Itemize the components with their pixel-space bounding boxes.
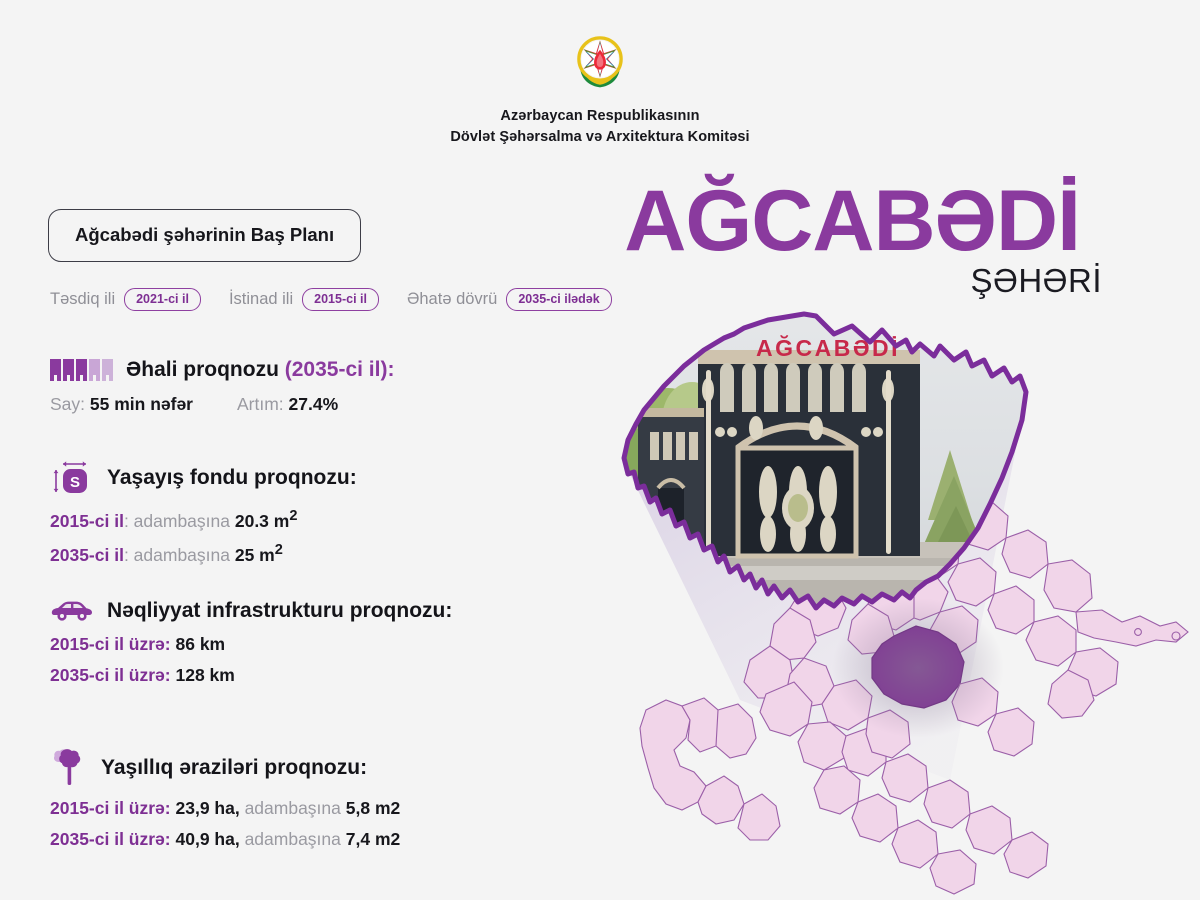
population-count: Say: 55 min nəfər [50, 394, 193, 415]
green-row-2035-key: 2035-ci il üzrə: [50, 829, 171, 849]
map-visual-svg: AĞCABƏDİ [620, 280, 1200, 900]
housing-row-2035: 2035-ci il: adambaşına 25 m2 [50, 542, 357, 566]
org-line-2: Dövlət Şəhərsalma və Arxitektura Komitəs… [0, 127, 1200, 148]
org-line-1: Azərbaycan Respublikasının [0, 106, 1200, 127]
population-growth-label: Artım: [237, 394, 289, 414]
housing-row-2035-key: 2035-ci il [50, 545, 124, 565]
housing-row-2035-value: 25 m [235, 545, 275, 565]
area-square-icon: S [50, 458, 94, 498]
green-row-2035-mid: adambaşına [240, 829, 346, 849]
green-row-2035: 2035-ci il üzrə: 40,9 ha, adambaşına 7,4… [50, 829, 400, 850]
svg-text:S: S [70, 474, 80, 491]
azerbaijan-state-emblem-icon [567, 28, 633, 94]
population-count-value: 55 min nəfər [90, 394, 193, 414]
district-roof-label: AĞCABƏDİ [756, 334, 900, 361]
meta-pill-coverage-period: 2035-ci ilədək [506, 288, 611, 311]
meta-pill-approval-year: 2021-ci il [124, 288, 201, 311]
housing-row-2015-key: 2015-ci il [50, 511, 124, 531]
housing-row-2015-sup: 2 [289, 508, 297, 524]
housing-row-2035-mid: : adambaşına [124, 545, 235, 565]
block-housing-title: Yaşayış fondu proqnozu: [107, 466, 357, 490]
block-population-title: Əhali proqnozu (2035-ci il): [126, 358, 394, 382]
meta-label-approval-year: Təsdiq ili [50, 290, 115, 309]
meta-item-coverage-period: Əhatə dövrü 2035-ci ilədək [407, 288, 612, 311]
meta-pill-reference-year: 2015-ci il [302, 288, 379, 311]
organization-name: Azərbaycan Respublikasının Dövlət Şəhərs… [0, 106, 1200, 148]
transport-row-2015-key: 2015-ci il üzrə: [50, 634, 171, 654]
block-population-title-accent: (2035-ci il): [285, 358, 395, 381]
meta-item-approval-year: Təsdiq ili 2021-ci il [50, 288, 201, 311]
block-green-title: Yaşıllıq əraziləri proqnozu: [101, 756, 367, 780]
tree-icon [50, 748, 88, 788]
housing-row-2035-sup: 2 [275, 542, 283, 558]
transport-row-2015: 2015-ci il üzrə: 86 km [50, 634, 452, 655]
block-population: Əhali proqnozu (2035-ci il): Say: 55 min… [50, 358, 394, 415]
housing-row-2015-mid: : adambaşına [124, 511, 235, 531]
block-transport: Nəqliyyat infrastrukturu proqnozu: 2015-… [50, 598, 452, 686]
district-glow [832, 598, 1004, 738]
green-row-2015-key: 2015-ci il üzrə: [50, 798, 171, 818]
green-row-2035-value: 40,9 ha, [171, 829, 240, 849]
plan-title-box: Ağcabədi şəhərinin Baş Planı [48, 209, 361, 262]
population-growth: Artım: 27.4% [237, 394, 338, 415]
green-row-2015: 2015-ci il üzrə: 23,9 ha, adambaşına 5,8… [50, 798, 400, 819]
meta-row: Təsdiq ili 2021-ci il İstinad ili 2015-c… [50, 288, 612, 311]
transport-row-2035: 2035-ci il üzrə: 128 km [50, 665, 452, 686]
plan-title-label: Ağcabədi şəhərinin Baş Planı [75, 224, 334, 245]
housing-row-2015: 2015-ci il: adambaşına 20.3 m2 [50, 508, 357, 532]
population-growth-value: 27.4% [289, 394, 339, 414]
green-row-2035-value2: 7,4 m2 [346, 829, 400, 849]
page-header: Azərbaycan Respublikasının Dövlət Şəhərs… [0, 28, 1200, 148]
infographic-page: Azərbaycan Respublikasının Dövlət Şəhərs… [0, 0, 1200, 900]
block-transport-title: Nəqliyyat infrastrukturu proqnozu: [107, 599, 452, 623]
green-row-2015-mid: adambaşına [240, 798, 346, 818]
transport-row-2015-value: 86 km [171, 634, 225, 654]
city-title: AĞCABƏDİ [624, 181, 1080, 263]
transport-row-2035-value: 128 km [171, 665, 235, 685]
block-green-areas: Yaşıllıq əraziləri proqnozu: 2015-ci il … [50, 748, 400, 850]
block-housing: S Yaşayış fondu proqnozu: 2015-ci il: ad… [50, 458, 357, 566]
meta-label-coverage-period: Əhatə dövrü [407, 290, 497, 309]
meta-item-reference-year: İstinad ili 2015-ci il [229, 288, 379, 311]
people-group-icon [50, 359, 113, 381]
car-icon [50, 598, 94, 624]
housing-row-2015-value: 20.3 m [235, 511, 289, 531]
transport-row-2035-key: 2035-ci il üzrə: [50, 665, 171, 685]
green-row-2015-value: 23,9 ha, [171, 798, 240, 818]
block-population-title-main: Əhali proqnozu [126, 358, 285, 381]
green-row-2015-value2: 5,8 m2 [346, 798, 400, 818]
population-count-label: Say: [50, 394, 90, 414]
meta-label-reference-year: İstinad ili [229, 290, 293, 309]
map-visual: AĞCABƏDİ [620, 280, 1200, 900]
